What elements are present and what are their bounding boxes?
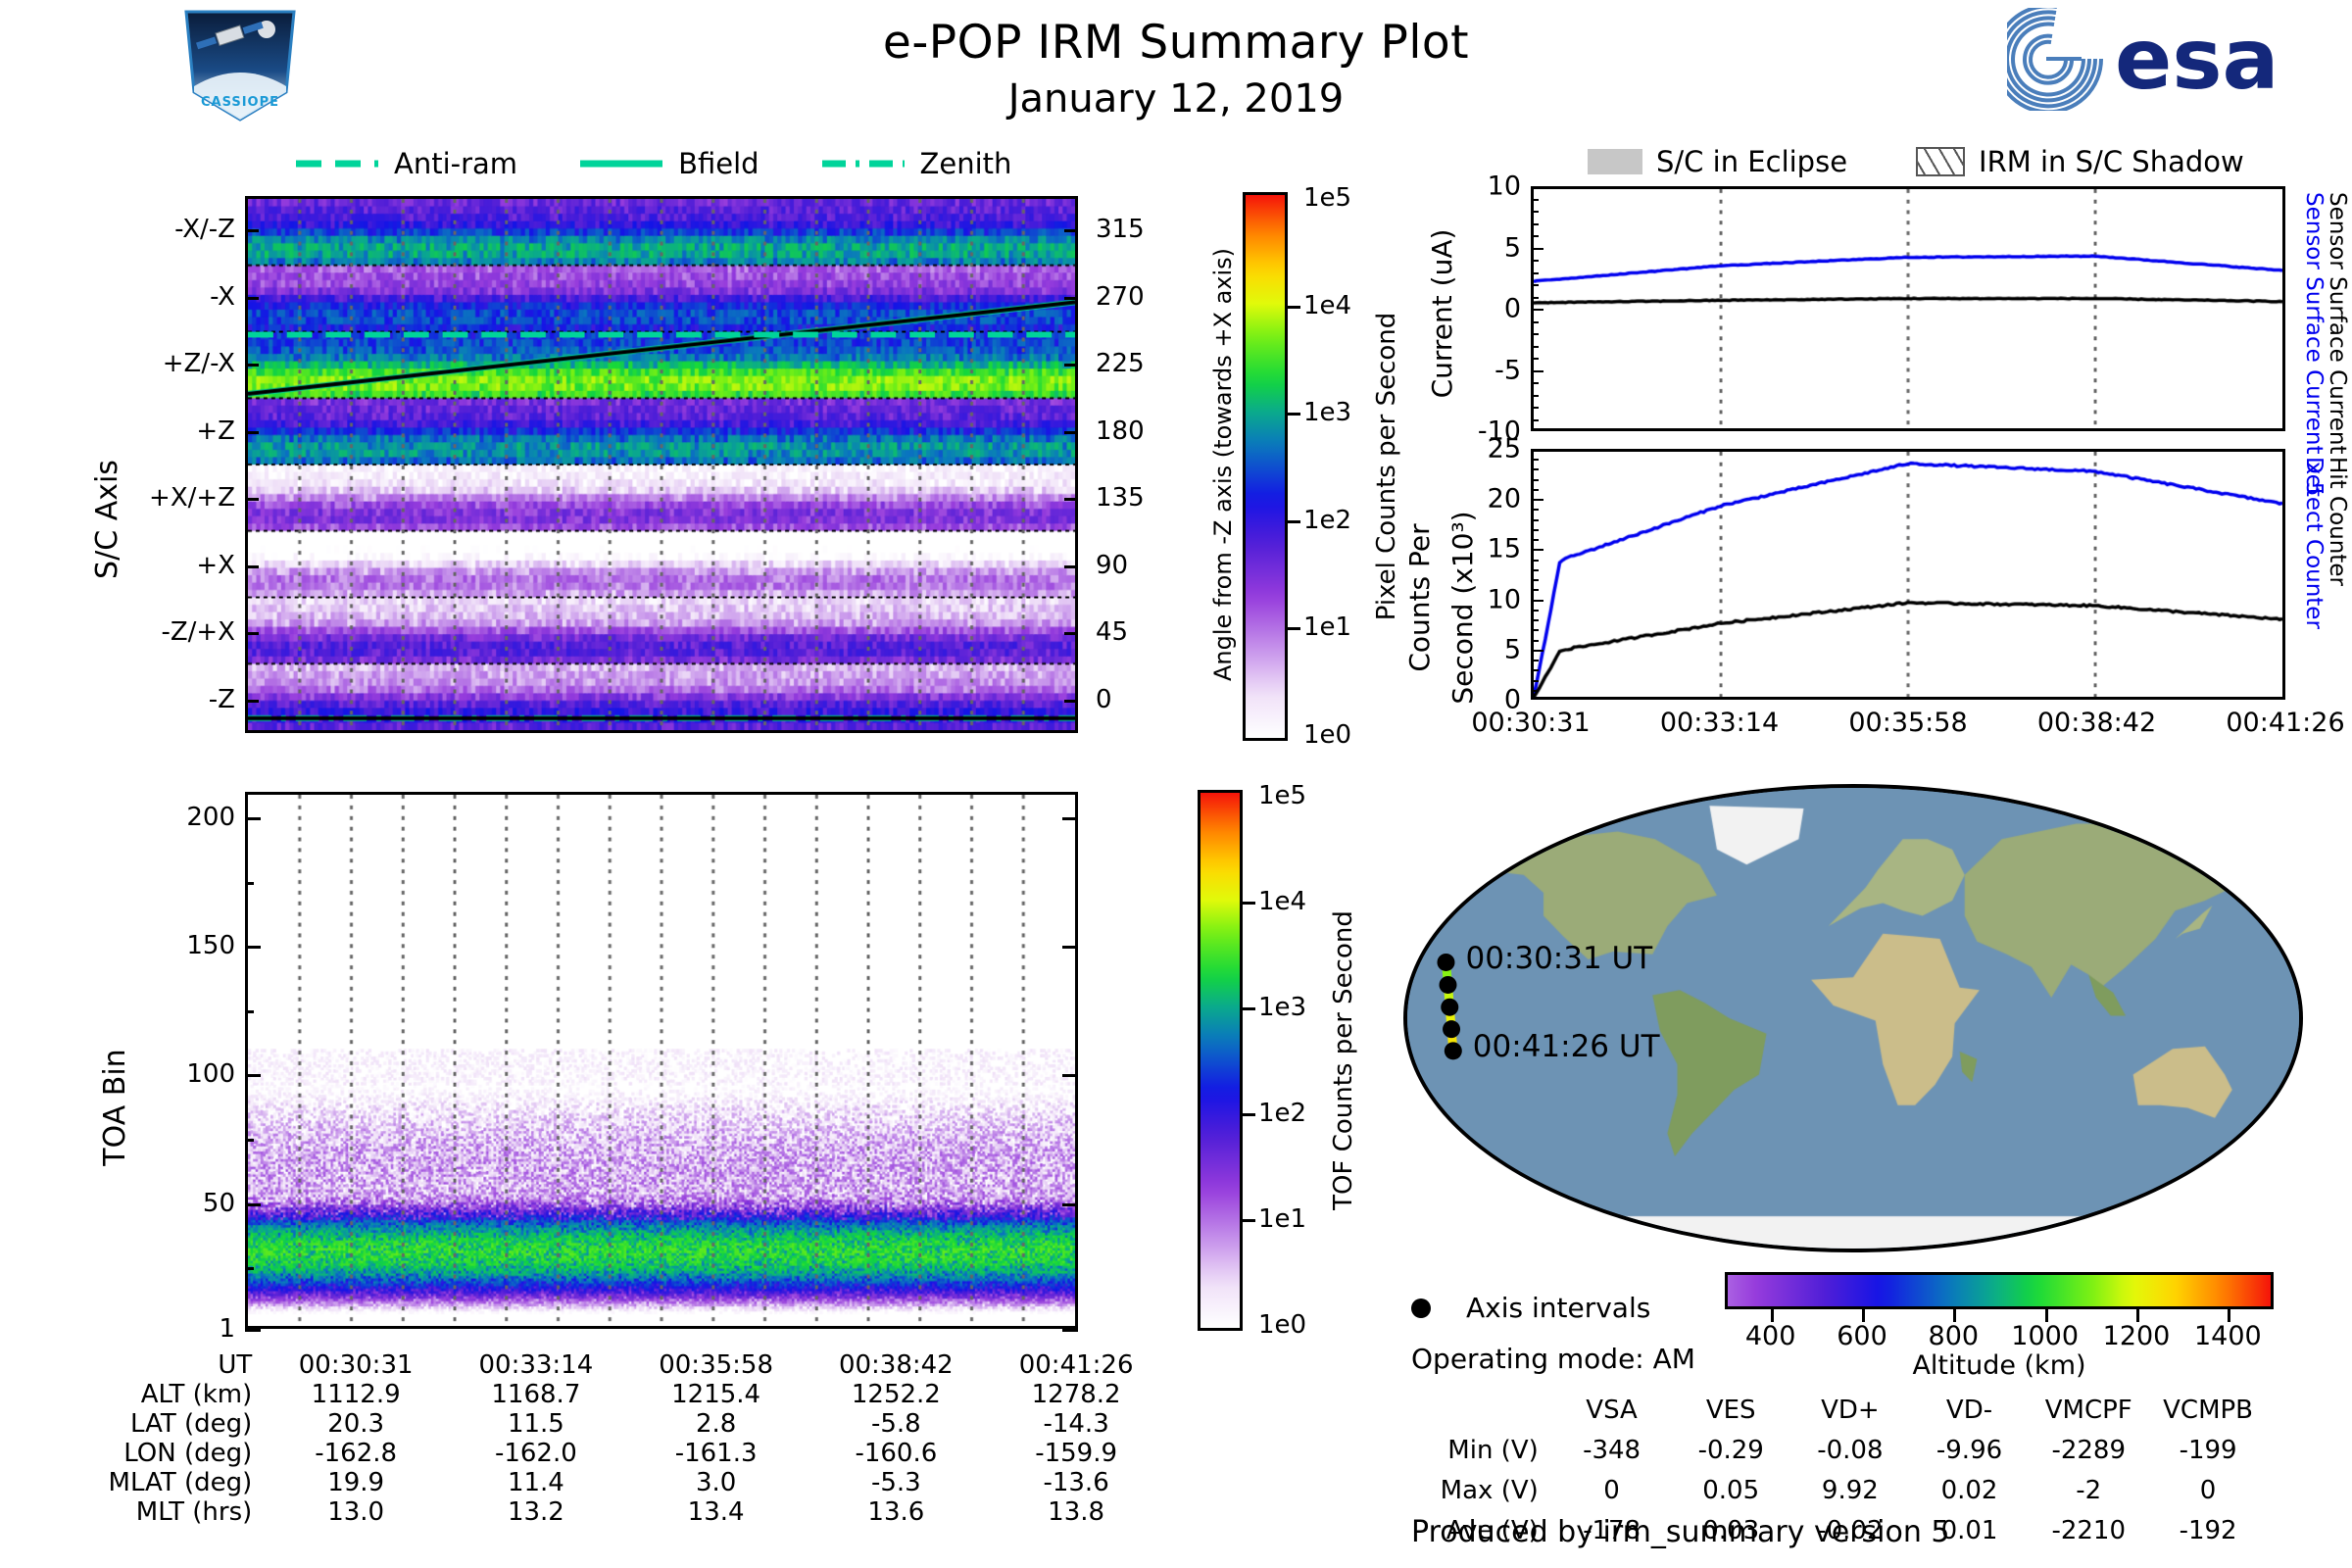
table-cell: 13.6 <box>806 1497 986 1527</box>
legend-label-anti-ram: Anti-ram <box>394 147 517 180</box>
xtick-label: 00:38:42 <box>2037 708 2156 738</box>
table-cell: 1112.9 <box>266 1380 446 1409</box>
table-cell: -5.8 <box>806 1409 986 1439</box>
axis-tick <box>1531 309 1543 311</box>
spectrogram-right-axis-label: Angle from -Z axis (towards +X axis) <box>1209 248 1237 681</box>
spectrogram-ytick-label-right: 315 <box>1096 215 1145 244</box>
axis-tick-minor <box>1531 284 1539 286</box>
axis-tick-minor <box>1531 529 1539 531</box>
table-cell: 13.0 <box>266 1497 446 1527</box>
spectrogram-ytick-labels-right: 31527022518013590450 <box>1096 196 1213 733</box>
voltage-table-column-header: VES <box>1671 1396 1790 1436</box>
axis-tick-label: -5 <box>1494 355 1521 385</box>
voltage-table-cell: 9.92 <box>1790 1476 1910 1516</box>
altitude-colorbar-tick-label: 1200 <box>2103 1321 2171 1351</box>
voltage-table-cell: -2 <box>2029 1476 2148 1516</box>
pixel-counts-colorbar-title: Pixel Counts per Second <box>1372 313 1401 621</box>
axis-tick-minor <box>1531 419 1539 421</box>
altitude-colorbar-title: Altitude (km) <box>1725 1350 2274 1381</box>
table-cell: 1168.7 <box>446 1380 626 1409</box>
altitude-colorbar-tick-label: 400 <box>1745 1321 1796 1351</box>
world-map[interactable] <box>1403 784 2303 1252</box>
axis-tick-label: 15 <box>1488 534 1521 564</box>
voltage-table-cell: 0.05 <box>1671 1476 1790 1516</box>
colorbar-tick <box>1243 1113 1255 1116</box>
toa-ytick-label: 200 <box>127 803 235 832</box>
dashdot-line-icon <box>820 157 906 171</box>
table-cell: 2.8 <box>626 1409 807 1439</box>
tof-counts-colorbar-title: TOF Counts per Second <box>1329 910 1358 1210</box>
voltage-table-cell: 0.02 <box>1910 1476 2030 1516</box>
spectrogram-ytick-label: -X <box>108 282 235 312</box>
axis-tick-label: 20 <box>1488 484 1521 514</box>
table-cell: -162.0 <box>446 1439 626 1468</box>
map-marker-legend-label: Axis intervals <box>1466 1292 1650 1324</box>
axis-tick <box>1531 650 1543 652</box>
voltage-table-cell: -0.08 <box>1790 1436 1910 1476</box>
axis-tick-minor <box>1531 395 1539 397</box>
spectrogram-ytick-label-right: 180 <box>1096 416 1145 446</box>
counts-tick-layer <box>1531 449 2285 700</box>
axis-tick-minor <box>1531 589 1539 591</box>
table-cell: 11.5 <box>446 1409 626 1439</box>
colorbar-tick-label: 1e0 <box>1303 720 1351 750</box>
page-title: e-POP IRM Summary Plot <box>0 16 2352 70</box>
axis-tick-minor <box>1531 509 1539 511</box>
page-subtitle-date: January 12, 2019 <box>0 76 2352 122</box>
axis-tick-label: 25 <box>1488 434 1521 465</box>
table-cell: 00:38:42 <box>806 1350 986 1380</box>
voltage-table-cell: -2289 <box>2029 1436 2148 1476</box>
voltage-table-cell: -0.29 <box>1671 1436 1790 1476</box>
dashed-line-icon <box>294 157 380 171</box>
axis-tick-minor <box>1531 235 1539 237</box>
spectrogram-ytick-label: -X/-Z <box>108 215 235 244</box>
toa-ytick <box>245 1329 261 1332</box>
voltage-table-column-header: VCMPB <box>2148 1396 2268 1436</box>
voltage-table-cell: -199 <box>2148 1436 2268 1476</box>
axis-tick-minor <box>1531 272 1539 274</box>
counts-ylabel-line1: Counts Per <box>1403 523 1436 671</box>
colorbar-tick-label: 1e4 <box>1258 887 1306 916</box>
table-cell: 00:33:14 <box>446 1350 626 1380</box>
altitude-colorbar-tick-label: 1400 <box>2194 1321 2262 1351</box>
axis-tick-minor <box>1531 199 1539 201</box>
spectrogram-ytick-label-right: 270 <box>1096 282 1145 312</box>
map-marker-legend: Axis intervals <box>1411 1292 1650 1324</box>
current-tick-layer <box>1531 186 2285 431</box>
legend-label-bfield: Bfield <box>678 147 759 180</box>
altitude-colorbar-tick-label: 600 <box>1837 1321 1887 1351</box>
colorbar-tick-label: 1e1 <box>1258 1204 1306 1234</box>
colorbar-tick-label: 1e2 <box>1303 506 1351 535</box>
voltage-table-row-label: Min (V) <box>1405 1436 1552 1476</box>
legend-item-zenith: Zenith <box>820 147 1012 180</box>
axis-tick-minor <box>1531 690 1539 692</box>
table-cell: 3.0 <box>626 1468 807 1497</box>
colorbar-tick-label: 1e2 <box>1258 1099 1306 1128</box>
table-cell: 20.3 <box>266 1409 446 1439</box>
table-row: MLAT (deg)19.911.43.0-5.3-13.6 <box>29 1468 1166 1497</box>
voltage-table-cell: 0 <box>1552 1476 1672 1516</box>
voltage-table-column-header: VD+ <box>1790 1396 1910 1436</box>
table-cell: -13.6 <box>986 1468 1166 1497</box>
colorbar-tick-label: 1e5 <box>1303 183 1351 213</box>
right-panels-xtick-labels: 00:30:3100:33:1400:35:5800:38:4200:41:26 <box>1531 708 2285 747</box>
colorbar-tick <box>1243 902 1255 905</box>
colorbar-tick <box>1243 1007 1255 1010</box>
axis-tick <box>1531 370 1543 372</box>
toa-ytick-right <box>1062 1329 1078 1332</box>
table-row-label: ALT (km) <box>29 1380 266 1409</box>
table-cell: 1215.4 <box>626 1380 807 1409</box>
voltage-table-header-row: VSAVESVD+VD-VMCPFVCMPB <box>1405 1396 2268 1436</box>
table-cell: 11.4 <box>446 1468 626 1497</box>
table-row-label: UT <box>29 1350 266 1380</box>
spectrogram-ytick-label: +X <box>108 551 235 580</box>
voltage-table-column-header: VMCPF <box>2029 1396 2148 1436</box>
table-row: LON (deg)-162.8-162.0-161.3-160.6-159.9 <box>29 1439 1166 1468</box>
table-row: ALT (km)1112.91168.71215.41252.21278.2 <box>29 1380 1166 1409</box>
voltage-table-row: Min (V)-348-0.29-0.08-9.96-2289-199 <box>1405 1436 2268 1476</box>
spectrogram-ytick-label: +X/+Z <box>108 483 235 513</box>
spectrogram-ytick-label-right: 90 <box>1096 551 1128 580</box>
axis-tick-minor <box>1531 519 1539 521</box>
legend-label-irm-shadow: IRM in S/C Shadow <box>1979 145 2244 178</box>
table-row-label: MLT (hrs) <box>29 1497 266 1527</box>
table-cell: 1252.2 <box>806 1380 986 1409</box>
table-cell: -14.3 <box>986 1409 1166 1439</box>
colorbar-tick <box>1288 520 1300 523</box>
axis-tick-minor <box>1531 468 1539 470</box>
toa-ytick-label: 1 <box>127 1314 235 1344</box>
axis-tick-minor <box>1531 346 1539 348</box>
xtick-label: 00:30:31 <box>1471 708 1590 738</box>
table-row: UT00:30:3100:33:1400:35:5800:38:4200:41:… <box>29 1350 1166 1380</box>
spectrogram-ytick-label: -Z <box>108 685 235 714</box>
colorbar-tick-label: 1e0 <box>1258 1310 1306 1340</box>
axis-tick-minor <box>1531 660 1539 661</box>
counts-right-label-blue: Detect Counter <box>2301 457 2327 629</box>
xtick-label: 00:41:26 <box>2226 708 2344 738</box>
voltage-table-cell: -192 <box>2148 1516 2268 1556</box>
voltage-table-cell: -9.96 <box>1910 1436 2030 1476</box>
table-cell: 13.2 <box>446 1497 626 1527</box>
black-dot-icon <box>1411 1298 1431 1318</box>
axis-tick-minor <box>1531 579 1539 581</box>
legend-label-sc-eclipse: S/C in Eclipse <box>1656 145 1847 178</box>
axis-tick-minor <box>1531 223 1539 225</box>
legend-item-irm-shadow: IRM in S/C Shadow <box>1916 145 2244 178</box>
axis-tick-minor <box>1531 640 1539 642</box>
spectrogram-ytick-label-right: 45 <box>1096 617 1128 647</box>
axis-tick-minor <box>1531 407 1539 409</box>
colorbar-tick <box>1288 627 1300 630</box>
xtick-label: 00:33:14 <box>1660 708 1779 738</box>
table-cell: 19.9 <box>266 1468 446 1497</box>
axis-tick-minor <box>1531 619 1539 621</box>
axis-tick <box>1531 450 1543 452</box>
operating-mode-label: Operating mode: AM <box>1411 1343 1695 1375</box>
voltage-table-cell: -2210 <box>2029 1516 2148 1556</box>
altitude-colorbar-labels: 400600800100012001400 <box>1725 1309 2274 1348</box>
spectrogram-ytick-labels-left: -X/-Z-X+Z/-X+Z+X/+Z+X-Z/+X-Z <box>108 196 235 733</box>
gray-swatch-icon <box>1588 149 1642 174</box>
colorbar-tick <box>1288 413 1300 416</box>
colorbar-tick-label: 1e3 <box>1303 398 1351 427</box>
toa-ytick-label: 100 <box>127 1059 235 1089</box>
axis-tick <box>1531 187 1543 189</box>
table-row-label: LAT (deg) <box>29 1409 266 1439</box>
spectrogram-ytick-label-right: 135 <box>1096 483 1145 513</box>
table-cell: 13.8 <box>986 1497 1166 1527</box>
colorbar-tick <box>1288 306 1300 309</box>
axis-tick <box>1531 499 1543 501</box>
axis-tick-minor <box>1531 489 1539 491</box>
axis-tick-minor <box>1531 610 1539 612</box>
table-cell: 00:30:31 <box>266 1350 446 1380</box>
table-cell: -160.6 <box>806 1439 986 1468</box>
altitude-colorbar-tick-label: 1000 <box>2011 1321 2079 1351</box>
spectrogram-ytick-label: +Z/-X <box>108 349 235 378</box>
axis-tick-minor <box>1531 669 1539 671</box>
table-cell: -5.3 <box>806 1468 986 1497</box>
eclipse-legend: S/C in Eclipse IRM in S/C Shadow <box>1588 145 2244 178</box>
voltage-table-cell: -348 <box>1552 1436 1672 1476</box>
axis-tick-minor <box>1531 539 1539 541</box>
voltage-table-column-header: VSA <box>1552 1396 1672 1436</box>
colorbar-tick-label: 1e3 <box>1258 993 1306 1022</box>
toa-ytick-label: 50 <box>127 1189 235 1218</box>
axis-tick-minor <box>1531 333 1539 335</box>
voltage-table-column-header: VD- <box>1910 1396 2030 1436</box>
axis-tick-label: 10 <box>1488 584 1521 614</box>
legend-label-zenith: Zenith <box>920 147 1012 180</box>
axis-tick-label: 5 <box>1504 232 1521 263</box>
footer-produced-by: Produced by irm_summary version 5 <box>1411 1515 1949 1549</box>
voltage-table-corner <box>1405 1396 1552 1436</box>
table-cell: -162.8 <box>266 1439 446 1468</box>
altitude-colorbar <box>1725 1272 2274 1309</box>
spectrogram-legend: Anti-ram Bfield Zenith <box>294 147 1011 180</box>
spectrogram-ytick-label: +Z <box>108 416 235 446</box>
table-cell: -159.9 <box>986 1439 1166 1468</box>
axis-tick-minor <box>1531 211 1539 213</box>
axis-tick-minor <box>1531 479 1539 481</box>
legend-item-anti-ram: Anti-ram <box>294 147 517 180</box>
legend-item-sc-eclipse: S/C in Eclipse <box>1588 145 1847 178</box>
axis-tick <box>1531 248 1543 250</box>
toa-ytick-label: 150 <box>127 931 235 960</box>
axis-tick-minor <box>1531 297 1539 299</box>
axis-tick-minor <box>1531 560 1539 562</box>
colorbar-tick-label: 1e4 <box>1303 291 1351 320</box>
table-row-label: LON (deg) <box>29 1439 266 1468</box>
toa-plot[interactable] <box>245 792 1078 1329</box>
axis-tick-minor <box>1531 321 1539 323</box>
axis-tick <box>1531 698 1543 700</box>
orbit-data-table: UT00:30:3100:33:1400:35:5800:38:4200:41:… <box>29 1350 1166 1527</box>
altitude-colorbar-tick-label: 800 <box>1929 1321 1980 1351</box>
axis-tick-minor <box>1531 260 1539 262</box>
voltage-table-row-label: Max (V) <box>1405 1476 1552 1516</box>
current-right-label-blue: Sensor Surface Current x 5 <box>2301 192 2327 496</box>
axis-tick-minor <box>1531 680 1539 682</box>
axis-tick-label: 10 <box>1488 171 1521 202</box>
axis-tick-minor <box>1531 382 1539 384</box>
axis-tick <box>1531 549 1543 551</box>
axis-tick-minor <box>1531 629 1539 631</box>
colorbar-tick <box>1243 1219 1255 1222</box>
voltage-table-cell: 0 <box>2148 1476 2268 1516</box>
legend-item-bfield: Bfield <box>578 147 759 180</box>
axis-tick-minor <box>1531 358 1539 360</box>
axis-tick-label: 5 <box>1504 634 1521 664</box>
toa-ytick-labels: 200150100501 <box>127 792 235 1329</box>
spectrogram-ytick-label-right: 0 <box>1096 685 1112 714</box>
table-cell: 00:35:58 <box>626 1350 807 1380</box>
spectrogram-ytick-label-right: 225 <box>1096 349 1145 378</box>
current-ytick-labels: 1050-5-10 <box>1441 186 1521 431</box>
counts-ytick-labels: 2520151050 <box>1456 449 1521 700</box>
hatched-swatch-icon <box>1916 147 1965 176</box>
axis-tick <box>1531 429 1543 431</box>
axis-tick-minor <box>1531 459 1539 461</box>
table-cell: 1278.2 <box>986 1380 1166 1409</box>
counts-right-label-black: Hit Counter <box>2325 457 2350 586</box>
xtick-label: 00:35:58 <box>1848 708 1967 738</box>
voltage-table-row: Max (V)00.059.920.02-20 <box>1405 1476 2268 1516</box>
table-row: LAT (deg)20.311.52.8-5.8-14.3 <box>29 1409 1166 1439</box>
solid-line-icon <box>578 157 664 171</box>
axis-tick-minor <box>1531 569 1539 571</box>
axis-tick-label: 0 <box>1504 294 1521 324</box>
spectrogram-plot[interactable] <box>245 196 1078 733</box>
colorbar-tick-label: 1e1 <box>1303 612 1351 642</box>
table-row-label: MLAT (deg) <box>29 1468 266 1497</box>
current-right-label-black: Sensor Surface Current <box>2325 192 2350 454</box>
colorbar-tick-label: 1e5 <box>1258 781 1306 810</box>
spectrogram-ytick-label: -Z/+X <box>108 617 235 647</box>
table-cell: -161.3 <box>626 1439 807 1468</box>
table-cell: 13.4 <box>626 1497 807 1527</box>
axis-tick <box>1531 600 1543 602</box>
table-cell: 00:41:26 <box>986 1350 1166 1380</box>
table-row: MLT (hrs)13.013.213.413.613.8 <box>29 1497 1166 1527</box>
